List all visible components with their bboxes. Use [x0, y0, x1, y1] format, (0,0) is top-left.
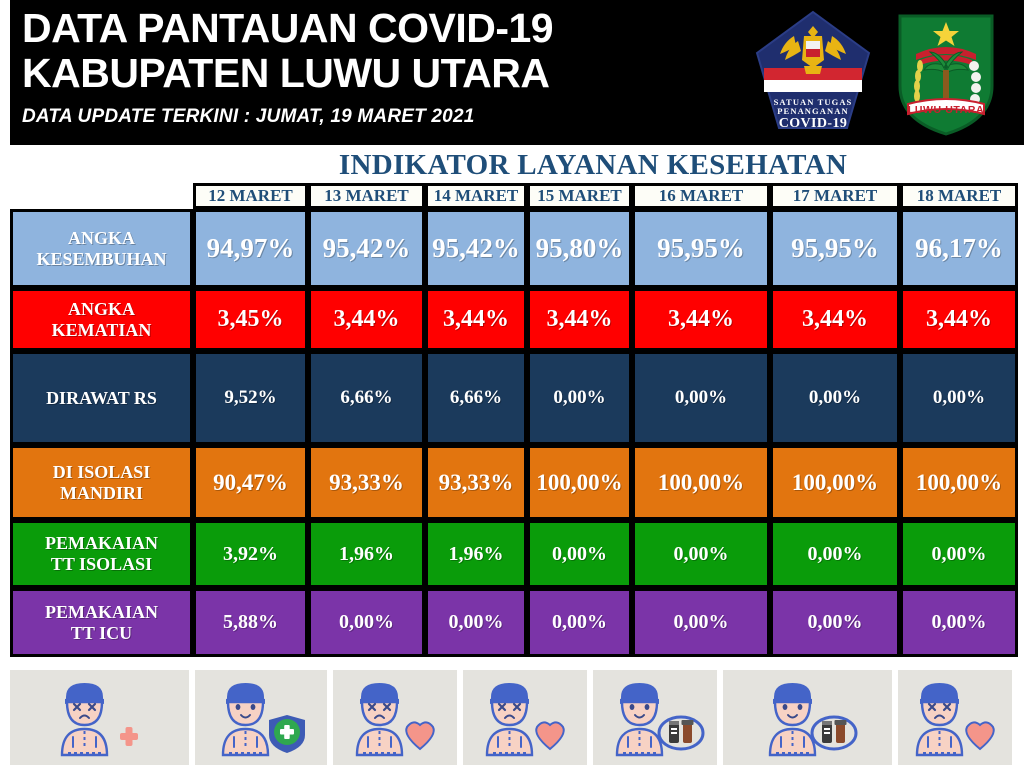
table-cell[interactable]: 90,47%	[193, 445, 308, 520]
table-cell[interactable]: 100,00%	[770, 445, 900, 520]
row-label-6[interactable]: PEMAKAIANTT ICU	[10, 588, 193, 657]
logo-text-penanganan: PENANGANAN	[777, 106, 848, 116]
dashboard-page: DATA PANTAUAN COVID-19 KABUPATEN LUWU UT…	[0, 0, 1024, 768]
table-cell[interactable]: 95,95%	[632, 209, 770, 288]
table-cell[interactable]: 0,00%	[425, 588, 527, 657]
satgas-covid19-logo: SATUAN TUGAS PENANGANAN COVID-19	[754, 8, 872, 136]
page-title-line1: DATA PANTAUAN COVID-19	[22, 6, 553, 51]
table-cell[interactable]: 6,66%	[308, 351, 425, 445]
table-cell[interactable]: 0,00%	[527, 588, 632, 657]
table-title: INDIKATOR LAYANAN KESEHATAN	[193, 147, 993, 183]
table-cell[interactable]: 3,44%	[632, 288, 770, 351]
table-cell[interactable]: 93,33%	[308, 445, 425, 520]
test-tube-icon	[812, 717, 856, 749]
table-cell[interactable]: 3,45%	[193, 288, 308, 351]
heart-icon	[406, 722, 434, 749]
table-cell[interactable]: 0,00%	[632, 351, 770, 445]
table-cell[interactable]: 96,17%	[900, 209, 1018, 288]
row-label-1[interactable]: ANGKAKESEMBUHAN	[10, 209, 193, 288]
update-subtitle: DATA UPDATE TERKINI : JUMAT, 19 MARET 20…	[22, 106, 553, 128]
table-cell[interactable]: 3,44%	[425, 288, 527, 351]
emblem-text-luwu-utara: LUWU UTARA	[908, 104, 984, 116]
test-tube-icon	[659, 717, 703, 749]
table-cell[interactable]: 3,44%	[308, 288, 425, 351]
table-cell[interactable]: 0,00%	[527, 520, 632, 588]
row-label-text: DI ISOLASIMANDIRI	[53, 462, 151, 504]
indicator-table-sheet: INDIKATOR LAYANAN KESEHATAN 12 MARET13 M…	[0, 145, 1024, 665]
table-cell[interactable]: 95,80%	[527, 209, 632, 288]
table-cell[interactable]: 100,00%	[527, 445, 632, 520]
row-label-text: DIRAWAT RS	[46, 388, 157, 409]
row-label-4[interactable]: DI ISOLASIMANDIRI	[10, 445, 193, 520]
header-corner-blank	[10, 183, 193, 209]
row-label-2[interactable]: ANGKAKEMATIAN	[10, 288, 193, 351]
column-header-3[interactable]: 14 MARET	[425, 183, 527, 209]
table-cell[interactable]: 95,42%	[308, 209, 425, 288]
row-label-text: PEMAKAIANTT ISOLASI	[45, 533, 158, 575]
patient-heart-icon	[463, 670, 587, 765]
table-cell[interactable]: 3,44%	[900, 288, 1018, 351]
heart-icon	[966, 722, 994, 749]
patient-heart-icon	[333, 670, 457, 765]
table-cell[interactable]: 95,42%	[425, 209, 527, 288]
header-text-block: DATA PANTAUAN COVID-19 KABUPATEN LUWU UT…	[22, 6, 553, 128]
table-cell[interactable]: 3,92%	[193, 520, 308, 588]
table-cell[interactable]: 0,00%	[632, 588, 770, 657]
table-cell[interactable]: 1,96%	[308, 520, 425, 588]
table-cell[interactable]: 0,00%	[632, 520, 770, 588]
table-cell[interactable]: 0,00%	[900, 351, 1018, 445]
heart-icon	[536, 722, 564, 749]
logo-group: SATUAN TUGAS PENANGANAN COVID-19	[754, 8, 1002, 138]
table-cell[interactable]: 6,66%	[425, 351, 527, 445]
row-label-text: ANGKAKEMATIAN	[52, 299, 152, 341]
column-header-2[interactable]: 13 MARET	[308, 183, 425, 209]
red-cross-icon	[120, 727, 138, 746]
patient-red-cross-icon	[10, 670, 189, 765]
patient-test-tube-icon	[723, 670, 892, 765]
table-cell[interactable]: 94,97%	[193, 209, 308, 288]
table-cell[interactable]: 100,00%	[632, 445, 770, 520]
page-header: DATA PANTAUAN COVID-19 KABUPATEN LUWU UT…	[0, 0, 1024, 145]
table-cell[interactable]: 93,33%	[425, 445, 527, 520]
column-header-1[interactable]: 12 MARET	[193, 183, 308, 209]
table-cell[interactable]: 5,88%	[193, 588, 308, 657]
patient-green-shield-icon	[195, 670, 327, 765]
row-label-text: ANGKAKESEMBUHAN	[36, 228, 166, 270]
column-header-4[interactable]: 15 MARET	[527, 183, 632, 209]
left-white-margin	[0, 0, 10, 768]
row-label-3[interactable]: DIRAWAT RS	[10, 351, 193, 445]
patient-heart-icon	[898, 670, 1012, 765]
table-cell[interactable]: 3,44%	[527, 288, 632, 351]
table-cell[interactable]: 0,00%	[770, 588, 900, 657]
page-title-line2: KABUPATEN LUWU UTARA	[22, 51, 553, 96]
table-cell[interactable]: 9,52%	[193, 351, 308, 445]
column-header-6[interactable]: 17 MARET	[770, 183, 900, 209]
row-label-text: PEMAKAIANTT ICU	[45, 602, 158, 644]
column-header-5[interactable]: 16 MARET	[632, 183, 770, 209]
table-cell[interactable]: 0,00%	[308, 588, 425, 657]
table-cell[interactable]: 0,00%	[900, 588, 1018, 657]
table-cell[interactable]: 95,95%	[770, 209, 900, 288]
table-cell[interactable]: 100,00%	[900, 445, 1018, 520]
table-cell[interactable]: 0,00%	[770, 351, 900, 445]
table-cell[interactable]: 0,00%	[770, 520, 900, 588]
row-label-5[interactable]: PEMAKAIANTT ISOLASI	[10, 520, 193, 588]
column-header-7[interactable]: 18 MARET	[900, 183, 1018, 209]
patient-test-tube-icon	[593, 670, 717, 765]
green-shield-icon	[269, 715, 305, 753]
table-cell[interactable]: 3,44%	[770, 288, 900, 351]
table-cell[interactable]: 1,96%	[425, 520, 527, 588]
luwu-utara-emblem: LUWU UTARA	[890, 8, 1002, 138]
icon-strip	[0, 665, 1024, 768]
table-cell[interactable]: 0,00%	[527, 351, 632, 445]
logo-text-covid19: COVID-19	[779, 116, 848, 131]
table-cell[interactable]: 0,00%	[900, 520, 1018, 588]
